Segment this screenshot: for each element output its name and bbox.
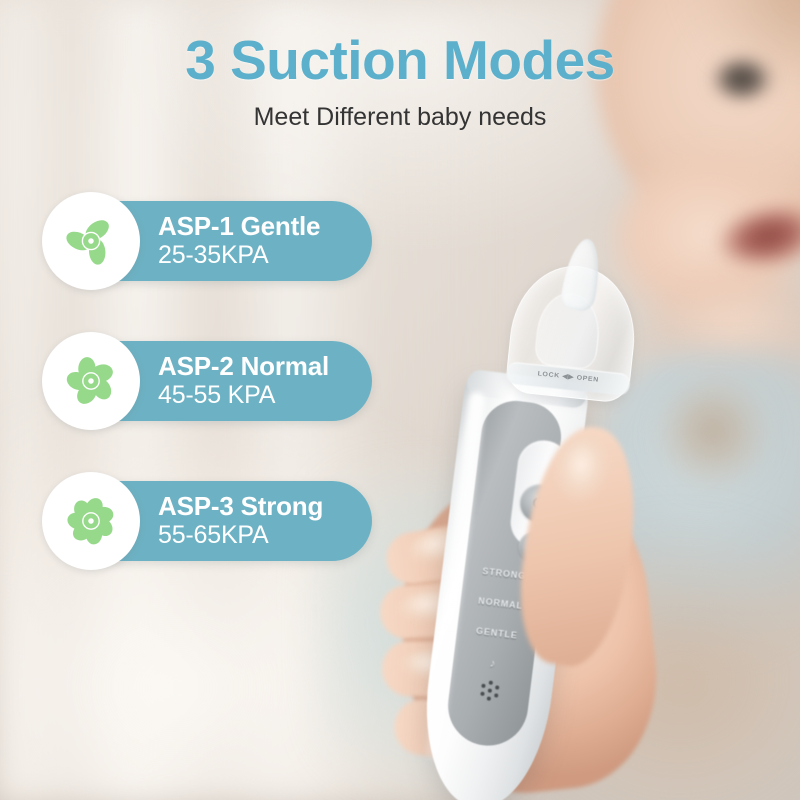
badge-text: ASP-3 Strong 55-65KPA [158, 492, 323, 551]
device-mode-label-music: ♪ [489, 658, 497, 671]
product-feature-image: ⏻ ♪ STRONG NORMAL GENTLE ♪ [0, 0, 800, 800]
badge-mode-name: ASP-1 Gentle [158, 212, 320, 241]
page-title: 3 Suction Modes [0, 28, 800, 92]
fan-3-blade-icon [42, 192, 140, 290]
suction-mode-badge-3[interactable]: ASP-3 Strong 55-65KPA [42, 472, 372, 570]
badge-mode-name: ASP-2 Normal [158, 352, 329, 381]
speaker-grille-icon [475, 676, 504, 705]
suction-mode-badge-1[interactable]: ASP-1 Gentle 25-35KPA [42, 192, 372, 290]
suction-mode-list: ASP-1 Gentle 25-35KPA ASP-2 Normal 45-55… [42, 192, 372, 612]
product-photo-nasal-aspirator: ⏻ ♪ STRONG NORMAL GENTLE ♪ [380, 230, 680, 800]
badge-mode-name: ASP-3 Strong [158, 492, 323, 521]
badge-mode-pressure: 45-55 KPA [158, 381, 329, 411]
badge-mode-pressure: 25-35KPA [158, 241, 320, 271]
fan-7-blade-icon [42, 472, 140, 570]
fan-5-blade-icon [42, 332, 140, 430]
badge-mode-pressure: 55-65KPA [158, 521, 323, 551]
device-mode-label-strong: STRONG [482, 566, 527, 581]
badge-text: ASP-2 Normal 45-55 KPA [158, 352, 329, 411]
aspirator-nozzle-cup: LOCK ◀▶ OPEN [500, 236, 648, 409]
device-mode-label-gentle: GENTLE [476, 626, 519, 641]
device-mode-label-normal: NORMAL [478, 596, 524, 611]
suction-mode-badge-2[interactable]: ASP-2 Normal 45-55 KPA [42, 332, 372, 430]
page-subtitle: Meet Different baby needs [0, 103, 800, 132]
badge-text: ASP-1 Gentle 25-35KPA [158, 212, 320, 271]
